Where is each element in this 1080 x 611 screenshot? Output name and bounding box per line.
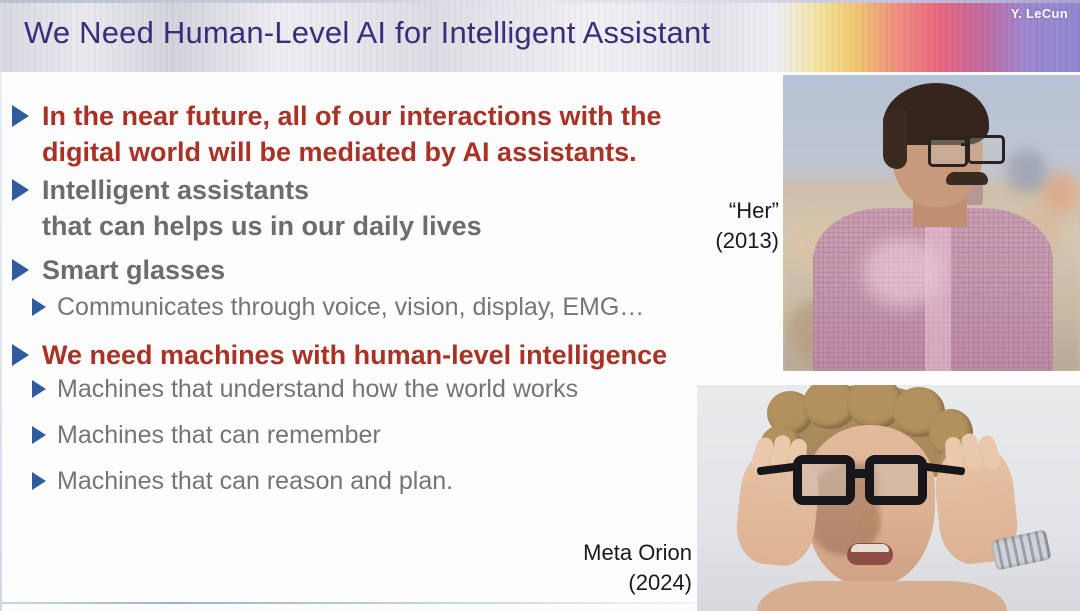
author-credit: Y. LeCun: [1011, 6, 1068, 21]
her-movie-still: [783, 75, 1080, 371]
her-crowd-blob: [1007, 149, 1047, 193]
orion-glasses-right-lens: [865, 455, 927, 505]
bottom-border-rule: [0, 602, 700, 604]
meta-orion-photo: [697, 385, 1080, 611]
orion-teeth: [851, 544, 889, 552]
her-glasses-bridge: [961, 143, 969, 146]
her-caption: “Her” (2013): [715, 196, 779, 256]
bullet-text: Machines that can remember: [57, 419, 381, 452]
bullet-item: Intelligent assistants that can helps us…: [12, 172, 752, 244]
orion-glasses-bridge: [852, 469, 870, 478]
bullet-item: In the near future, all of our interacti…: [12, 98, 752, 170]
her-glasses-right-lens: [967, 135, 1005, 164]
orion-shoulder: [757, 581, 1007, 611]
her-glasses-left-lens: [928, 137, 968, 167]
triangle-bullet-icon: [12, 344, 29, 366]
bullet-text: Intelligent assistants that can helps us…: [42, 172, 482, 244]
orion-smart-glasses: [793, 455, 953, 507]
bullet-text: Smart glasses: [42, 252, 225, 288]
triangle-bullet-icon: [32, 426, 46, 444]
left-border-rule: [0, 72, 2, 611]
slide-title-banner: We Need Human-Level AI for Intelligent A…: [0, 0, 1080, 72]
bullet-text: We need machines with human-level intell…: [42, 337, 667, 373]
bullet-item: Machines that can remember: [32, 419, 732, 452]
bullet-item: Smart glasses: [12, 252, 752, 288]
her-mustache: [946, 172, 988, 185]
bullet-text: Communicates through voice, vision, disp…: [57, 291, 644, 324]
bullet-item: We need machines with human-level intell…: [12, 337, 772, 373]
her-shirt-placket: [925, 208, 951, 371]
her-shirt: [813, 208, 1053, 371]
bullet-text: Machines that understand how the world w…: [57, 373, 578, 406]
triangle-bullet-icon: [32, 298, 46, 316]
bullet-text: In the near future, all of our interacti…: [42, 98, 662, 170]
orion-finger: [977, 434, 1003, 471]
her-crowd-blob: [1041, 171, 1079, 215]
her-sideburn: [883, 109, 907, 169]
bullet-item: Machines that can reason and plan.: [32, 465, 732, 498]
orion-nose: [859, 511, 881, 537]
page-title: We Need Human-Level AI for Intelligent A…: [24, 15, 710, 51]
bullet-text: Machines that can reason and plan.: [57, 465, 453, 498]
bullet-item: Communicates through voice, vision, disp…: [32, 291, 822, 324]
bullet-item: Machines that understand how the world w…: [32, 373, 732, 406]
triangle-bullet-icon: [32, 472, 46, 490]
triangle-bullet-icon: [12, 105, 29, 127]
presentation-slide: We Need Human-Level AI for Intelligent A…: [0, 0, 1080, 611]
triangle-bullet-icon: [32, 380, 46, 398]
banner-top-edge: [0, 0, 1080, 3]
triangle-bullet-icon: [12, 259, 29, 281]
orion-glasses-left-lens: [793, 455, 855, 505]
triangle-bullet-icon: [12, 179, 29, 201]
orion-caption: Meta Orion (2024): [583, 538, 692, 598]
